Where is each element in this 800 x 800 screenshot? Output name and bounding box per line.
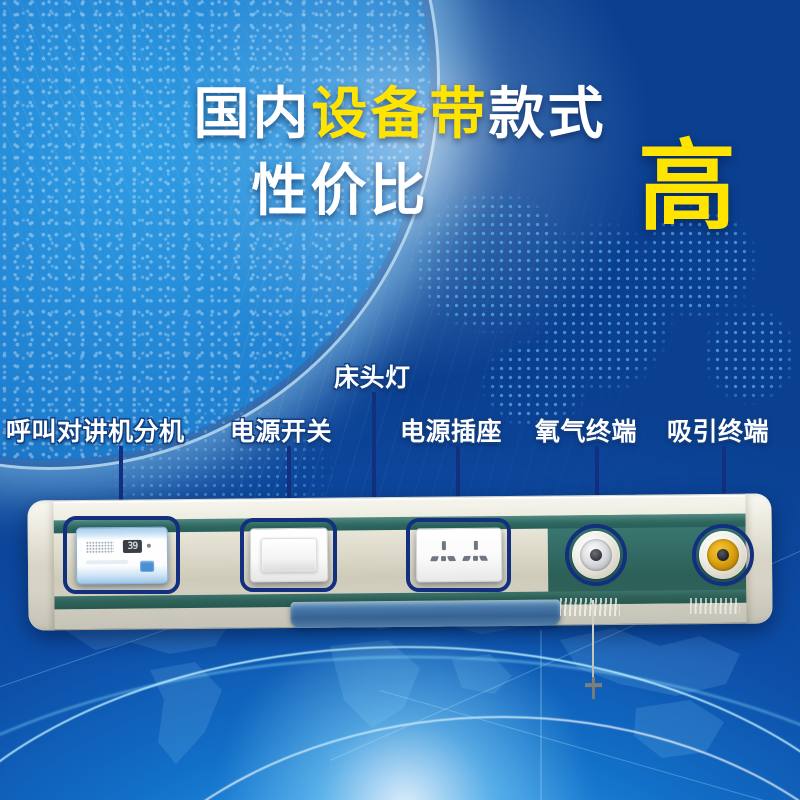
callout-box-power-switch	[240, 518, 337, 592]
callout-label-power-switch: 电源开关	[230, 412, 332, 448]
callout-circle-oxygen-terminal	[565, 524, 627, 586]
product-promo-image: 国内设备带款式 性价比 高 呼叫对讲机分机 电源开关 床头灯 电源插座 氧气终端…	[0, 0, 800, 800]
callout-label-oxygen-terminal: 氧气终端	[535, 412, 637, 448]
headline-text-highlight: 设备带	[312, 82, 489, 145]
callout-circle-suction-terminal	[692, 524, 754, 586]
bedside-lamp-diffuser[interactable]	[290, 599, 560, 628]
callout-label-suction-terminal: 吸引终端	[667, 412, 769, 448]
callout-label-call-intercom-extension: 呼叫对讲机分机	[6, 412, 185, 448]
pull-cord[interactable]	[592, 600, 594, 682]
callout-box-power-socket	[406, 518, 511, 592]
panel-end-cap-left	[27, 500, 54, 630]
callout-label-power-socket: 电源插座	[400, 412, 502, 448]
headline-text-1b: 款式	[489, 82, 607, 145]
callout-label-bedside-lamp: 床头灯	[334, 358, 411, 394]
vertical-line-1	[540, 630, 542, 800]
callout-box-call-intercom-extension	[63, 516, 180, 594]
cord-seam-left	[560, 598, 620, 616]
headline-text-1a: 国内	[194, 82, 312, 145]
cord-seam-right	[690, 598, 740, 614]
headline-big-word: 高	[638, 137, 736, 235]
